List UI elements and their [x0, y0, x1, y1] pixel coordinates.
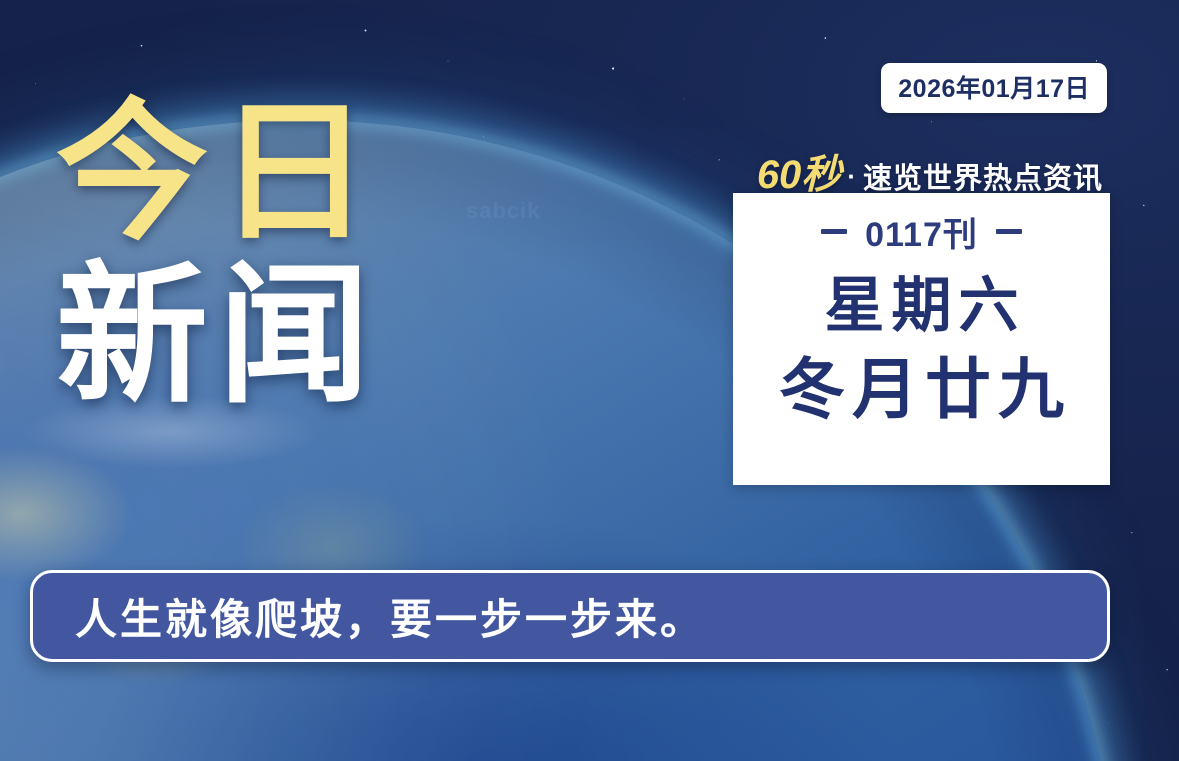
weekday-label: 星期六 — [818, 272, 1026, 339]
title-line-xinwen: 新闻 — [56, 255, 380, 418]
issue-row: 0117刊 — [821, 207, 1022, 256]
poster-title: 今日 新闻 — [56, 92, 380, 417]
issue-dash-left-icon — [821, 229, 847, 234]
tagline: 60秒 · 速览世界热点资讯 — [757, 142, 1103, 200]
info-card: 0117刊 星期六 冬月廿九 — [733, 193, 1110, 485]
date-badge: 2026年01月17日 — [881, 63, 1107, 113]
lunar-date-label: 冬月廿九 — [772, 353, 1071, 426]
quote-banner: 人生就像爬坡，要一步一步来。 — [30, 570, 1110, 662]
tagline-seconds: 60秒 — [757, 142, 842, 200]
tagline-description: 速览世界热点资讯 — [863, 155, 1103, 197]
tagline-separator-dot: · — [841, 161, 863, 192]
title-line-jinri: 今日 — [56, 92, 380, 255]
issue-dash-right-icon — [996, 229, 1022, 234]
quote-text: 人生就像爬坡，要一步一步来。 — [33, 586, 705, 647]
site-watermark: sabcik — [466, 198, 541, 224]
news-poster: sabcik 今日 新闻 2026年01月17日 60秒 · 速览世界热点资讯 … — [0, 0, 1179, 761]
issue-number: 0117刊 — [865, 207, 978, 256]
